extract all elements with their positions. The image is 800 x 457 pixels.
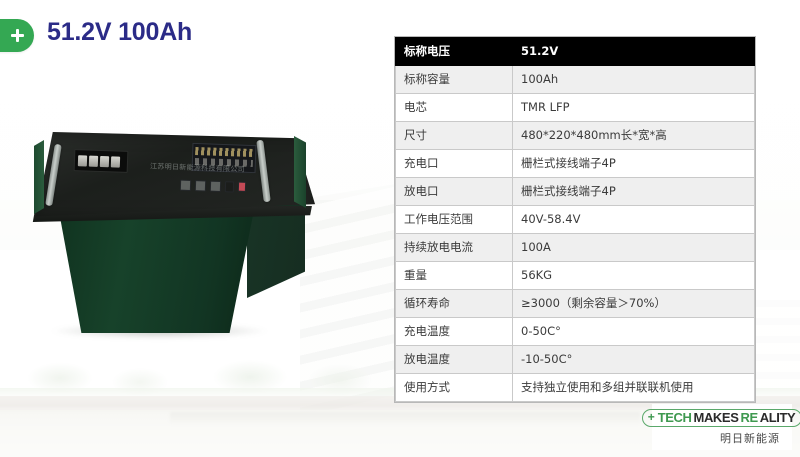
logo-chinese-name: 明日新能源 — [720, 430, 780, 446]
table-row: 工作电压范围 40V-58.4V — [396, 206, 755, 234]
port-connector — [210, 180, 221, 191]
port-connector — [195, 180, 206, 191]
spec-value: 0-50C° — [513, 318, 755, 346]
battery-left-rail — [34, 140, 44, 214]
spec-key: 放电温度 — [396, 346, 513, 374]
spec-key: 充电口 — [396, 150, 513, 178]
logo-wordmark: + TECH MAKES RE ALITY — [642, 409, 800, 427]
spec-key: 工作电压范围 — [396, 206, 513, 234]
company-logo: + TECH MAKES RE ALITY 明日新能源 — [652, 404, 792, 450]
table-row: 充电温度 0-50C° — [396, 318, 755, 346]
terminal-screw — [111, 156, 120, 167]
slide-canvas: 51.2V 100Ah 江苏明日新能源科技有限公司 — [0, 0, 800, 457]
terminal-screw — [78, 155, 87, 166]
plus-badge — [0, 19, 34, 52]
spec-key: 放电口 — [396, 178, 513, 206]
spec-key: 尺寸 — [396, 122, 513, 150]
spec-value: 100A — [513, 234, 755, 262]
logo-word-makes: MAKES — [694, 411, 739, 424]
port-connector — [180, 179, 191, 190]
spec-key: 充电温度 — [396, 318, 513, 346]
specification-table: 标称电压 51.2V 标称容量 100Ah 电芯 TMR LFP 尺寸 480*… — [395, 37, 755, 402]
table-row: 使用方式 支持独立使用和多组并联联机使用 — [396, 374, 755, 402]
spec-key: 持续放电电流 — [396, 234, 513, 262]
table-header-value: 51.2V — [513, 38, 755, 66]
spec-key: 电芯 — [396, 94, 513, 122]
table-row: 标称容量 100Ah — [396, 66, 755, 94]
battery-product-image: 江苏明日新能源科技有限公司 — [22, 118, 322, 333]
logo-word-tech: TECH — [658, 411, 692, 424]
indicator-light — [238, 182, 246, 192]
spec-value: 栅栏式接线端子4P — [513, 178, 755, 206]
plus-icon-stem — [16, 29, 19, 42]
table-row: 放电温度 -10-50C° — [396, 346, 755, 374]
table-row: 电芯 TMR LFP — [396, 94, 755, 122]
logo-plus-icon: + — [648, 411, 655, 423]
table-row: 持续放电电流 100A — [396, 234, 755, 262]
spec-value: 56KG — [513, 262, 755, 290]
spec-value: TMR LFP — [513, 94, 755, 122]
table-row: 循环寿命 ≥3000（剩余容量＞70%） — [396, 290, 755, 318]
spec-key: 循环寿命 — [396, 290, 513, 318]
power-switch — [225, 181, 234, 192]
spec-key: 使用方式 — [396, 374, 513, 402]
page-title: 51.2V 100Ah — [47, 18, 192, 47]
background-water-reflection — [170, 412, 640, 424]
logo-word-re: RE — [740, 411, 757, 424]
table-header-row: 标称电压 51.2V — [396, 38, 755, 66]
table-row: 重量 56KG — [396, 262, 755, 290]
battery-terminal-block — [74, 149, 129, 173]
spec-value: 100Ah — [513, 66, 755, 94]
table-row: 尺寸 480*220*480mm长*宽*高 — [396, 122, 755, 150]
logo-word-ality: ALITY — [760, 411, 796, 424]
spec-value: 支持独立使用和多组并联联机使用 — [513, 374, 755, 402]
table-row: 放电口 栅栏式接线端子4P — [396, 178, 755, 206]
spec-value: 480*220*480mm长*宽*高 — [513, 122, 755, 150]
spec-value: ≥3000（剩余容量＞70%） — [513, 290, 755, 318]
specification-table-body: 标称电压 51.2V 标称容量 100Ah 电芯 TMR LFP 尺寸 480*… — [396, 38, 755, 402]
spec-value: -10-50C° — [513, 346, 755, 374]
terminal-screw — [100, 155, 109, 166]
table-row: 充电口 栅栏式接线端子4P — [396, 150, 755, 178]
spec-value: 栅栏式接线端子4P — [513, 150, 755, 178]
terminal-screw — [89, 155, 98, 166]
spec-key: 重量 — [396, 262, 513, 290]
spec-value: 40V-58.4V — [513, 206, 755, 234]
spec-key: 标称容量 — [396, 66, 513, 94]
table-header-key: 标称电压 — [396, 38, 513, 66]
